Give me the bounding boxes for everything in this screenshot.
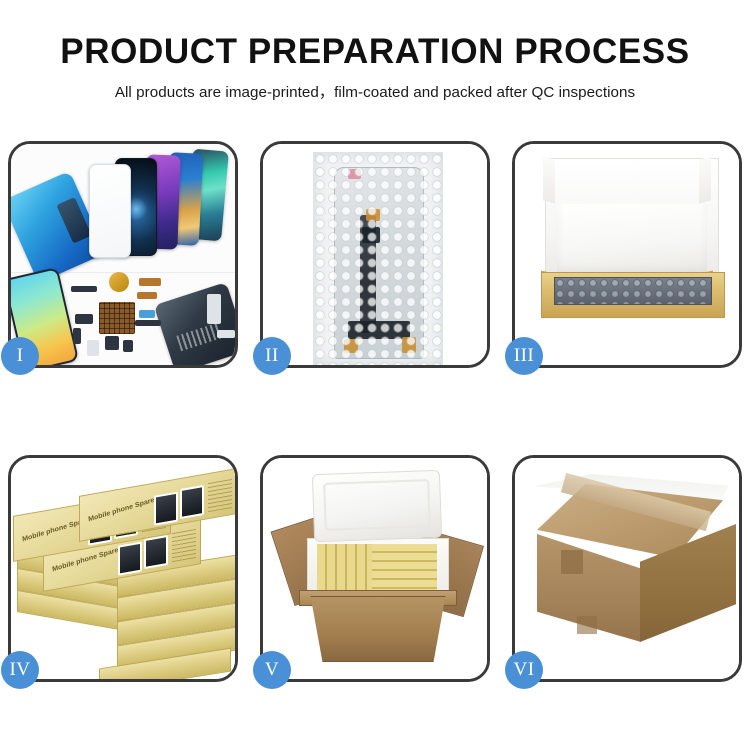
- process-step-card-4: Mobile phone Spare Parts Mobile phone Sp…: [8, 455, 238, 682]
- step-badge-2: II: [253, 337, 291, 375]
- step-badge-6: VI: [505, 651, 543, 689]
- screw-pack-part: [123, 340, 133, 352]
- phone-screens-and-spare-parts-image: [11, 144, 235, 365]
- vibrator-part: [75, 314, 93, 324]
- screwdriver-part: [217, 330, 235, 338]
- step-badge-3: III: [505, 337, 543, 375]
- box-spec-lines-2: [172, 528, 196, 562]
- carton-tab-upper: [561, 550, 583, 574]
- pink-label-sticker: [348, 169, 361, 179]
- connector-strip-part: [135, 320, 161, 326]
- battery-part: [87, 340, 99, 356]
- earpiece-part: [71, 286, 97, 292]
- gold-connector-left: [344, 339, 358, 353]
- foam-box-lid: [312, 470, 442, 542]
- box-spec-lines-3: [208, 478, 232, 512]
- box-thumb-3b: [180, 485, 204, 519]
- box-thumb-2b: [144, 535, 168, 569]
- step-badge-4: IV: [1, 651, 39, 689]
- sealed-shipping-carton-image: [515, 458, 739, 679]
- flex-cable-part-2: [137, 292, 157, 299]
- step-6-photo: [515, 458, 739, 679]
- box-lid-flap-right: [699, 157, 711, 204]
- process-steps-grid: I: [8, 141, 742, 682]
- ic-chip-part: [99, 302, 135, 334]
- white-foam-sheet: [557, 204, 707, 276]
- lcd-in-bubble-wrap-bag-image: [263, 144, 487, 365]
- box-stack: Mobile phone Spare Parts Mobile phone Sp…: [13, 476, 235, 679]
- lcd-connector-mid: [362, 227, 380, 243]
- grey-bubble-wrapped-items: [554, 277, 712, 305]
- process-step-card-5: V: [260, 455, 490, 682]
- kraft-box-tray: [541, 272, 725, 318]
- process-step-card-3: III: [512, 141, 742, 368]
- process-step-card-1: I: [8, 141, 238, 368]
- camera-module-part: [139, 310, 155, 318]
- step-5-photo: [263, 458, 487, 679]
- box-lid-flap-left: [543, 157, 555, 204]
- flex-cable-part-1: [139, 278, 161, 286]
- tempered-glass-sheet: [89, 164, 131, 258]
- step-badge-1: I: [1, 337, 39, 375]
- step-1-photo: [11, 144, 235, 365]
- process-step-card-2: II: [260, 141, 490, 368]
- gold-connector-top: [366, 209, 380, 221]
- header: PRODUCT PREPARATION PROCESS All products…: [0, 34, 750, 102]
- page-title: PRODUCT PREPARATION PROCESS: [0, 34, 750, 71]
- step-4-photo: Mobile phone Spare Parts Mobile phone Sp…: [11, 458, 235, 679]
- gold-connector-right: [402, 337, 416, 353]
- speaker-part: [109, 272, 129, 292]
- page-subtitle: All products are image-printed，film-coat…: [0, 80, 750, 102]
- process-step-card-6: VI: [512, 455, 742, 682]
- bubble-wrap-bag: [313, 152, 443, 365]
- button-part: [105, 336, 119, 350]
- sim-tray-part: [73, 328, 81, 344]
- step-badge-5: V: [253, 651, 291, 689]
- carton-body: [303, 596, 453, 662]
- step-3-photo: [515, 144, 739, 365]
- open-kraft-box-with-foam-image: [515, 144, 739, 365]
- carton-with-foam-and-boxes-image: [263, 458, 487, 679]
- stacked-spare-parts-boxes-image: Mobile phone Spare Parts Mobile phone Sp…: [11, 458, 235, 679]
- yellow-retail-boxes: [317, 544, 437, 596]
- tweezers-part: [207, 294, 221, 324]
- box-thumb-3a: [154, 491, 178, 525]
- lcd-driver-board: [348, 321, 410, 339]
- product-preparation-infographic: PRODUCT PREPARATION PROCESS All products…: [0, 0, 750, 750]
- box-thumb-2a: [118, 541, 142, 575]
- step-2-photo: [263, 144, 487, 365]
- carton-tab-lower: [577, 616, 597, 634]
